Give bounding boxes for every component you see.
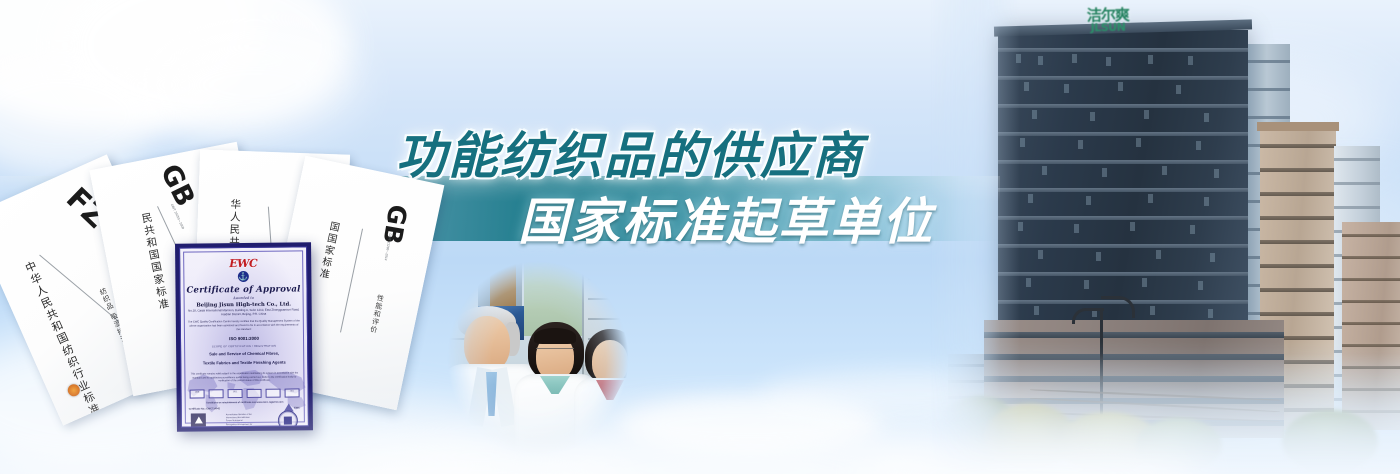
certificate-body-text: The EWC Quality Certification Centre her… bbox=[188, 319, 300, 331]
date-boxes-row: 2008 2011 001 bbox=[190, 388, 300, 398]
divider bbox=[340, 229, 363, 333]
streetlight-arm-left bbox=[1072, 308, 1104, 324]
tower-cap bbox=[1257, 122, 1339, 131]
rooftop-sign-line2: JLSUN bbox=[1070, 21, 1146, 33]
certificates-cluster: FZ 中华人民共和国纺织行业标准 FZ/T 01136—2012 纺织品 吸湿排… bbox=[0, 150, 470, 474]
triangle-glyph bbox=[194, 416, 202, 423]
tree bbox=[1136, 418, 1222, 474]
tree bbox=[1282, 410, 1378, 474]
anchor-icon: ⚓ bbox=[238, 271, 249, 282]
standard-mark-gb: GB bbox=[379, 203, 410, 246]
standard-subtitle: 性能和评价 bbox=[368, 294, 386, 335]
rooftop-sign: 洁尔爽 JLSUN bbox=[1070, 7, 1147, 42]
certificate-inner: EWC ⚓ Certificate of Approval Awarded to… bbox=[179, 246, 309, 427]
certificate-title: Certificate of Approval bbox=[180, 284, 306, 295]
ewc-certificate: EWC ⚓ Certificate of Approval Awarded to… bbox=[175, 242, 313, 431]
date-box bbox=[247, 389, 262, 398]
standard-title: 中华人民共和国纺织行业标准 bbox=[20, 259, 103, 420]
streetlight-arm-right bbox=[1101, 296, 1135, 318]
validity-text: This certificate remains valid subject t… bbox=[189, 371, 299, 383]
date-box bbox=[266, 389, 281, 398]
date-box: 2008 bbox=[190, 389, 205, 398]
person-researcher-right bbox=[574, 326, 656, 474]
date-box: 2011 bbox=[228, 389, 243, 398]
ewc-logo-text: EWC bbox=[180, 256, 306, 270]
accreditation-line: Quality Management Systems bbox=[226, 427, 254, 428]
issuer-short: EWC bbox=[294, 406, 300, 409]
accreditation-text: Accreditation Member of the Internationa… bbox=[226, 414, 254, 428]
eyeglasses bbox=[536, 348, 574, 357]
accreditation-logo bbox=[191, 413, 206, 427]
background-tower bbox=[1342, 222, 1400, 430]
date-box: 001 bbox=[285, 388, 300, 397]
date-box bbox=[209, 389, 224, 398]
certificate-number: Certificate No.: EWC714042 bbox=[189, 407, 220, 410]
laboratory-photo bbox=[432, 244, 662, 474]
hero-banner: 洁尔爽 JLSUN bbox=[0, 0, 1400, 474]
standard-mark-gb: GB bbox=[156, 160, 199, 210]
official-round-seal bbox=[278, 410, 298, 427]
city-skyline-photo: 洁尔爽 JLSUN bbox=[930, 0, 1400, 474]
accreditation-line: Recognition Arrangement for bbox=[226, 424, 254, 428]
standard-title: 国国家标准 bbox=[314, 220, 341, 282]
hair-fringe bbox=[534, 328, 576, 344]
